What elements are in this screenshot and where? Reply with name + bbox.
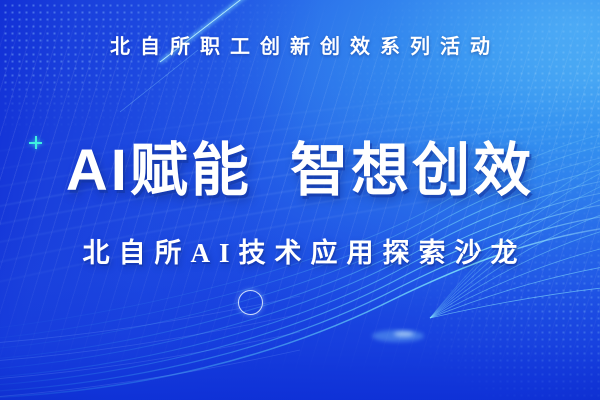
poster-subtitle: 北自所AI技术应用探索沙龙 bbox=[0, 237, 600, 269]
poster-main-title: AI赋能 智想创效 bbox=[0, 140, 600, 202]
poster-headline: 北自所职工创新创效系列活动 bbox=[0, 34, 600, 60]
poster-canvas: 北自所职工创新创效系列活动 AI赋能 智想创效 北自所AI技术应用探索沙龙 bbox=[0, 0, 600, 400]
circle-outline-icon bbox=[238, 290, 263, 315]
poster-text-group: 北自所职工创新创效系列活动 AI赋能 智想创效 北自所AI技术应用探索沙龙 bbox=[0, 0, 600, 400]
